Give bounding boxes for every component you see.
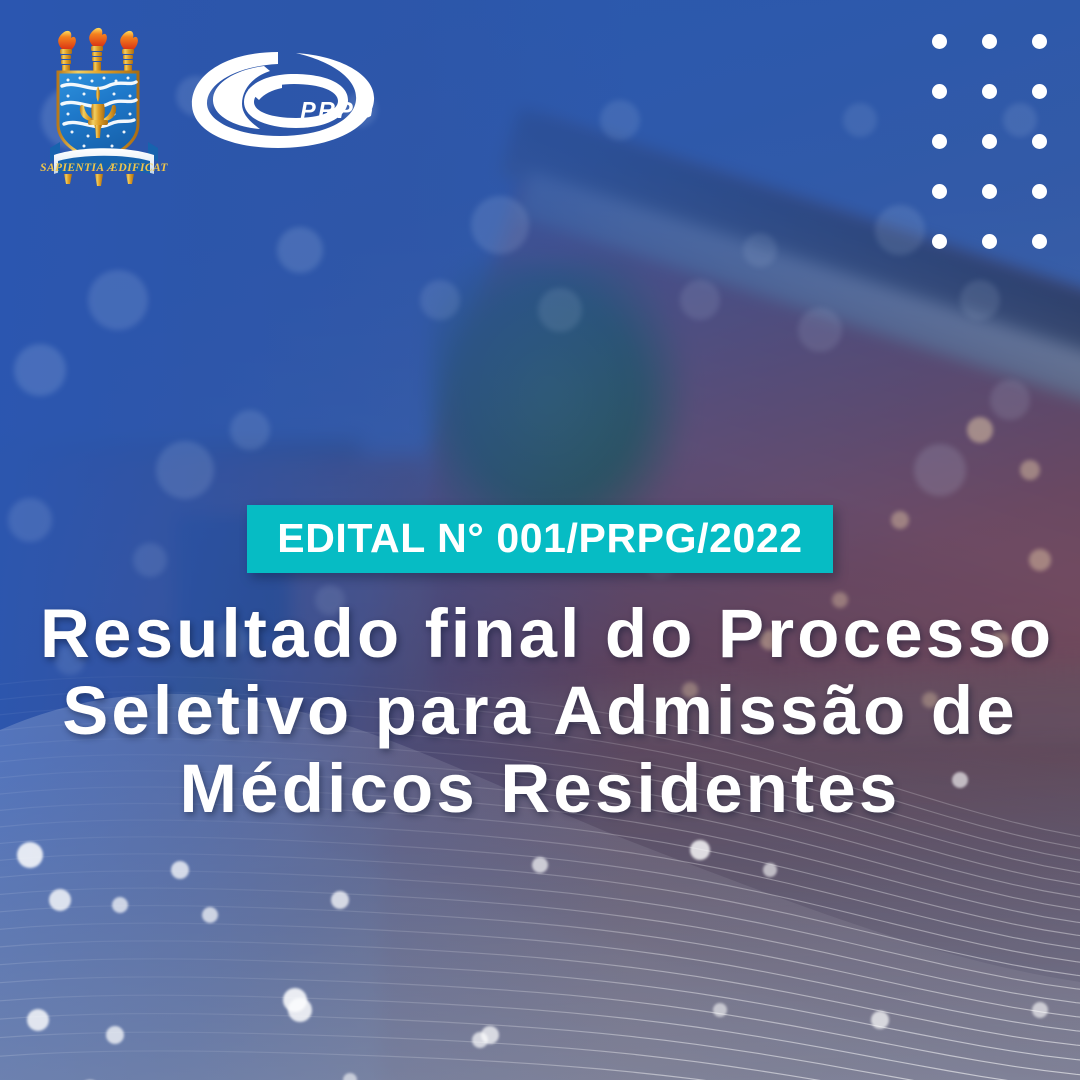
grid-dot <box>982 34 997 49</box>
grid-dot <box>1032 134 1047 149</box>
title-line-2: Seletivo para Admissão de <box>40 672 1040 749</box>
grid-dot <box>982 84 997 99</box>
announcement-poster: SAPIENTIA ÆDIFICAT <box>0 0 1080 1080</box>
title-line-1: Resultado final do Processo <box>40 595 1040 672</box>
grid-dot <box>932 184 947 199</box>
grid-dot <box>1032 234 1047 249</box>
grid-dot <box>1032 34 1047 49</box>
grid-dot <box>932 234 947 249</box>
grid-dot <box>932 134 947 149</box>
prpg-logo-label: PRPG <box>300 97 375 123</box>
dot-grid-pattern <box>914 16 1064 266</box>
grid-dot <box>932 84 947 99</box>
grid-dot <box>982 184 997 199</box>
grid-dot <box>1032 184 1047 199</box>
grid-dot <box>982 234 997 249</box>
headline-block: EDITAL N° 001/PRPG/2022 Resultado final … <box>0 505 1080 827</box>
edital-number-badge: EDITAL N° 001/PRPG/2022 <box>247 505 832 573</box>
crest-motto: SAPIENTIA ÆDIFICAT <box>40 162 168 174</box>
prpg-logo-icon: PRPG <box>186 44 386 164</box>
ufpb-coat-of-arms-icon: SAPIENTIA ÆDIFICAT <box>40 24 168 194</box>
title-line-3: Médicos Residentes <box>40 750 1040 827</box>
grid-dot <box>1032 84 1047 99</box>
grid-dot <box>982 134 997 149</box>
page-title: Resultado final do Processo Seletivo par… <box>0 595 1080 827</box>
grid-dot <box>932 34 947 49</box>
